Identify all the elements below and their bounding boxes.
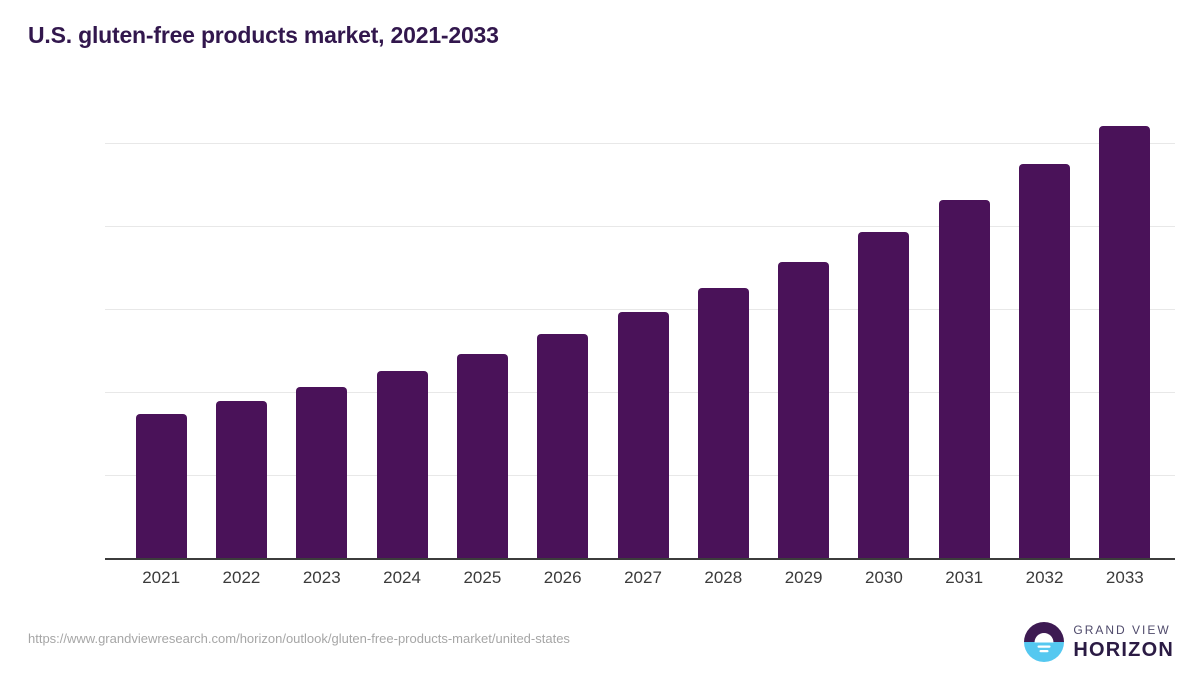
source-url[interactable]: https://www.grandviewresearch.com/horizo… bbox=[28, 631, 570, 646]
gridline bbox=[105, 143, 1175, 144]
x-axis-tick-label: 2027 bbox=[598, 568, 688, 588]
x-axis-line bbox=[105, 558, 1175, 560]
bar[interactable] bbox=[939, 200, 990, 558]
logo-text: GRAND VIEW HORIZON bbox=[1073, 624, 1174, 660]
x-axis-tick-label: 2025 bbox=[437, 568, 527, 588]
x-axis-tick-label: 2024 bbox=[357, 568, 447, 588]
bar[interactable] bbox=[216, 401, 267, 558]
logo-text-line2: HORIZON bbox=[1073, 640, 1174, 660]
brand-logo[interactable]: GRAND VIEW HORIZON bbox=[1024, 622, 1174, 662]
bar[interactable] bbox=[1019, 164, 1070, 558]
bar[interactable] bbox=[136, 414, 187, 558]
bar[interactable] bbox=[858, 232, 909, 558]
x-axis-tick-label: 2031 bbox=[919, 568, 1009, 588]
x-axis-tick-label: 2021 bbox=[116, 568, 206, 588]
x-axis-tick-label: 2029 bbox=[759, 568, 849, 588]
x-axis-tick-label: 2028 bbox=[678, 568, 768, 588]
horizon-sunrise-logo-icon bbox=[1024, 622, 1064, 662]
gridline bbox=[105, 226, 1175, 227]
page-title: U.S. gluten-free products market, 2021-2… bbox=[28, 22, 499, 49]
x-axis-tick-label: 2023 bbox=[277, 568, 367, 588]
x-axis-tick-label: 2022 bbox=[196, 568, 286, 588]
bar[interactable] bbox=[296, 387, 347, 558]
plot-area: 01k2k3k4k5k bbox=[105, 110, 1175, 558]
bar[interactable] bbox=[1099, 126, 1150, 558]
chart-card: U.S. gluten-free products market, 2021-2… bbox=[0, 0, 1200, 675]
bar[interactable] bbox=[377, 371, 428, 558]
x-axis-tick-label: 2033 bbox=[1080, 568, 1170, 588]
bar[interactable] bbox=[698, 288, 749, 558]
bar[interactable] bbox=[537, 334, 588, 558]
x-axis-tick-label: 2032 bbox=[1000, 568, 1090, 588]
bar[interactable] bbox=[778, 262, 829, 558]
x-axis-tick-label: 2026 bbox=[518, 568, 608, 588]
gridline bbox=[105, 309, 1175, 310]
logo-text-line1: GRAND VIEW bbox=[1073, 624, 1174, 636]
x-axis-tick-label: 2030 bbox=[839, 568, 929, 588]
bar[interactable] bbox=[618, 312, 669, 558]
bar[interactable] bbox=[457, 354, 508, 558]
